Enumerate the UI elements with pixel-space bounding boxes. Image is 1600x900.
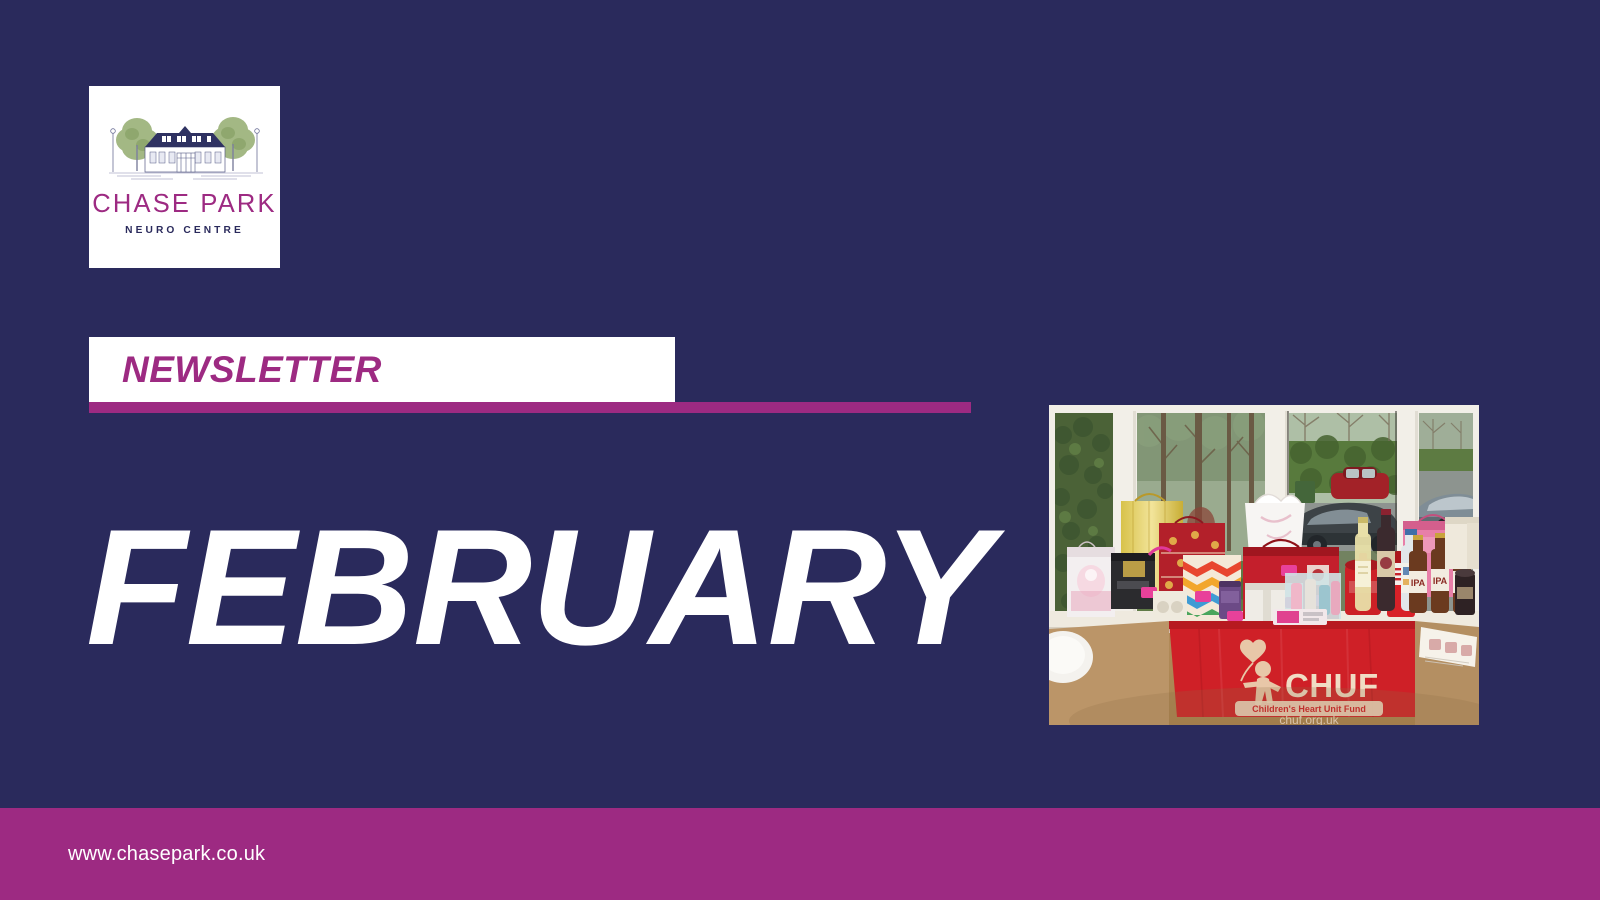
logo-card: CHASE PARK NEURO CENTRE — [89, 86, 280, 268]
newsletter-label: NEWSLETTER — [122, 351, 382, 388]
chuf-charity-raffle-table-photo: IPA IPA IPA — [1049, 405, 1479, 725]
newsletter-cover-slide: CHASE PARK NEURO CENTRE NEWSLETTER FEBRU… — [0, 0, 1600, 900]
country-house-with-trees-icon — [101, 100, 269, 186]
newsletter-band: NEWSLETTER — [89, 337, 675, 402]
photo-illustration: IPA IPA IPA — [1049, 405, 1479, 725]
svg-text:IPA: IPA — [1411, 578, 1426, 588]
logo-subwordmark: NEURO CENTRE — [125, 226, 244, 236]
page-title-month: FEBRUARY — [86, 500, 986, 675]
accent-bar-divider — [89, 402, 971, 413]
svg-text:IPA: IPA — [1433, 576, 1448, 586]
logo-wordmark: CHASE PARK — [92, 192, 277, 218]
website-url[interactable]: www.chasepark.co.uk — [68, 843, 265, 866]
footer-bar: www.chasepark.co.uk — [0, 808, 1600, 900]
